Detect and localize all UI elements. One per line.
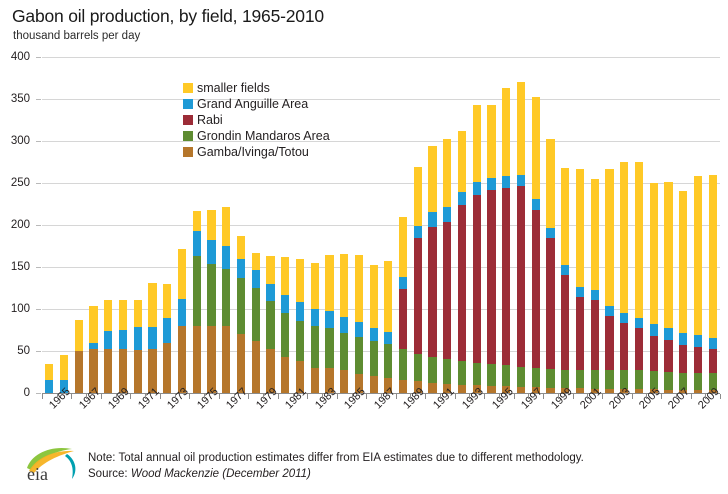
x-axis-tick-mark xyxy=(337,394,338,399)
bar-segment xyxy=(296,361,304,393)
bar-segment xyxy=(458,205,466,361)
legend-item[interactable]: Grand Anguille Area xyxy=(183,96,330,112)
bar-segment xyxy=(178,249,186,299)
bar-segment xyxy=(414,238,422,354)
bar-segment xyxy=(517,186,525,367)
page-title: Gabon oil production, by field, 1965-201… xyxy=(12,6,324,27)
bar-1994[interactable] xyxy=(473,105,481,393)
y-axis-tick-label: 150 xyxy=(0,261,30,273)
bar-1978[interactable] xyxy=(237,236,245,393)
bar-segment xyxy=(664,340,672,372)
bar-segment xyxy=(163,284,171,318)
bar-segment xyxy=(266,349,274,393)
legend-item[interactable]: Rabi xyxy=(183,112,330,128)
bar-1990[interactable] xyxy=(414,167,422,393)
bar-segment xyxy=(517,367,525,387)
bar-segment xyxy=(148,349,156,393)
x-axis-tick-mark xyxy=(410,394,411,399)
legend-item-label: smaller fields xyxy=(197,82,270,95)
bar-segment xyxy=(89,349,97,393)
bar-segment xyxy=(694,176,702,335)
bar-segment xyxy=(104,331,112,349)
bar-segment xyxy=(650,183,658,324)
bar-segment xyxy=(45,364,53,380)
legend-swatch-icon xyxy=(183,83,193,93)
bar-segment xyxy=(487,105,495,178)
y-axis-tick-mark xyxy=(36,183,41,184)
bar-segment xyxy=(428,146,436,212)
bar-1998[interactable] xyxy=(532,97,540,393)
bar-segment xyxy=(591,370,599,388)
bar-segment xyxy=(340,370,348,393)
bar-segment xyxy=(384,344,392,378)
bar-segment xyxy=(311,309,319,326)
bar-2003[interactable] xyxy=(605,169,613,393)
bar-2010[interactable] xyxy=(709,175,717,393)
bar-segment xyxy=(664,328,672,340)
bar-segment xyxy=(325,255,333,310)
bar-2000[interactable] xyxy=(561,168,569,393)
bar-segment xyxy=(620,313,628,323)
bar-segment xyxy=(576,169,584,287)
bar-segment xyxy=(458,385,466,393)
bar-segment xyxy=(281,295,289,313)
bar-segment xyxy=(561,265,569,276)
y-axis-tick-label: 300 xyxy=(0,135,30,147)
x-axis-tick-mark xyxy=(366,394,367,399)
bar-segment xyxy=(89,343,97,350)
x-axis-tick-mark xyxy=(42,394,43,399)
bar-segment xyxy=(428,357,436,383)
bar-segment xyxy=(355,337,363,374)
bar-segment xyxy=(60,355,68,380)
bar-segment xyxy=(428,212,436,226)
bar-segment xyxy=(193,326,201,393)
bar-segment xyxy=(443,384,451,393)
bar-segment xyxy=(119,330,127,349)
bar-segment xyxy=(561,275,569,369)
bar-1977[interactable] xyxy=(222,207,230,393)
x-axis-tick-mark xyxy=(455,394,456,399)
x-axis-tick-mark xyxy=(646,394,647,399)
bar-1966[interactable] xyxy=(60,355,68,393)
y-axis-tick-mark xyxy=(36,309,41,310)
bar-1985[interactable] xyxy=(340,254,348,393)
bar-1968[interactable] xyxy=(89,306,97,393)
bar-2001[interactable] xyxy=(576,169,584,393)
bar-1971[interactable] xyxy=(134,300,142,393)
bar-segment xyxy=(325,311,333,328)
bar-segment xyxy=(458,131,466,192)
bar-segment xyxy=(620,323,628,370)
bar-2007[interactable] xyxy=(664,182,672,393)
bar-segment xyxy=(266,284,274,301)
bar-1981[interactable] xyxy=(281,257,289,393)
x-axis-tick-mark xyxy=(514,394,515,399)
y-axis-tick-label: 250 xyxy=(0,177,30,189)
bar-segment xyxy=(650,324,658,336)
bar-segment xyxy=(134,350,142,393)
bar-2004[interactable] xyxy=(620,162,628,393)
bar-2005[interactable] xyxy=(635,162,643,393)
bar-segment xyxy=(487,386,495,393)
legend-item-label: Rabi xyxy=(197,114,223,127)
x-axis-tick-mark xyxy=(71,394,72,399)
bar-segment xyxy=(546,369,554,388)
bar-segment xyxy=(709,349,717,373)
bar-segment xyxy=(635,328,643,370)
legend-item[interactable]: Grondin Mandaros Area xyxy=(183,128,330,144)
bar-segment xyxy=(458,361,466,385)
bar-segment xyxy=(237,334,245,393)
bar-segment xyxy=(340,254,348,318)
y-axis-tick-label: 200 xyxy=(0,219,30,231)
bar-1967[interactable] xyxy=(75,320,83,393)
x-axis-tick-mark xyxy=(175,394,176,399)
bar-segment xyxy=(163,343,171,393)
bar-segment xyxy=(502,386,510,393)
bar-segment xyxy=(605,306,613,316)
bar-segment xyxy=(635,162,643,318)
bar-segment xyxy=(679,191,687,334)
bar-segment xyxy=(384,261,392,332)
eia-logo: eia xyxy=(24,446,82,484)
bar-2002[interactable] xyxy=(591,179,599,393)
bar-segment xyxy=(694,373,702,390)
y-axis-tick-label: 0 xyxy=(0,387,30,399)
bar-segment xyxy=(709,175,717,338)
x-axis-tick-mark xyxy=(189,394,190,399)
bar-1984[interactable] xyxy=(325,255,333,393)
bar-1983[interactable] xyxy=(311,263,319,393)
bar-1991[interactable] xyxy=(428,146,436,393)
bar-1992[interactable] xyxy=(443,139,451,393)
bar-segment xyxy=(591,179,599,290)
bar-segment xyxy=(428,383,436,393)
bar-segment xyxy=(694,347,702,373)
bar-segment xyxy=(414,354,422,382)
bar-segment xyxy=(650,371,658,389)
bar-segment xyxy=(370,328,378,341)
bar-segment xyxy=(311,263,319,309)
x-axis-tick-mark xyxy=(145,394,146,399)
bar-segment xyxy=(414,226,422,238)
x-axis-tick-mark xyxy=(720,394,721,399)
bar-1975[interactable] xyxy=(193,211,201,393)
bar-segment xyxy=(664,182,672,328)
bar-segment xyxy=(311,368,319,393)
x-axis-tick-mark xyxy=(263,394,264,399)
bar-segment xyxy=(443,222,451,359)
bar-segment xyxy=(443,207,451,221)
bar-2008[interactable] xyxy=(679,191,687,393)
bar-segment xyxy=(237,236,245,260)
x-axis-tick-mark xyxy=(293,394,294,399)
bar-1972[interactable] xyxy=(148,283,156,393)
legend-item-label: Gamba/Ivinga/Totou xyxy=(197,146,309,159)
legend-swatch-icon xyxy=(183,115,193,125)
bar-segment xyxy=(443,359,451,384)
bar-segment xyxy=(148,283,156,327)
x-axis-tick-mark xyxy=(440,394,441,399)
bar-segment xyxy=(119,349,127,393)
note-text: Total annual oil production estimates di… xyxy=(119,452,584,464)
bar-segment xyxy=(60,380,68,393)
x-axis-tick-mark xyxy=(602,394,603,399)
bar-segment xyxy=(576,297,584,369)
x-axis-tick-mark xyxy=(278,394,279,399)
bar-segment xyxy=(178,299,186,326)
x-axis-tick-mark xyxy=(484,394,485,399)
y-axis-tick-label: 350 xyxy=(0,93,30,105)
footer-divider xyxy=(0,437,728,438)
bar-segment xyxy=(222,246,230,269)
bar-segment xyxy=(193,211,201,231)
x-axis-tick-mark xyxy=(543,394,544,399)
y-axis-tick-label: 400 xyxy=(0,51,30,63)
bar-1982[interactable] xyxy=(296,259,304,393)
bar-segment xyxy=(193,256,201,326)
y-axis-tick-label: 100 xyxy=(0,303,30,315)
y-axis-tick-mark xyxy=(36,57,41,58)
bar-segment xyxy=(473,105,481,182)
bar-segment xyxy=(207,210,215,240)
bar-segment xyxy=(620,370,628,388)
bar-1996[interactable] xyxy=(502,88,510,393)
bar-segment xyxy=(487,364,495,386)
bar-segment xyxy=(222,269,230,326)
bar-1969[interactable] xyxy=(104,300,112,393)
bar-segment xyxy=(428,227,436,357)
bar-segment xyxy=(281,257,289,295)
bar-segment xyxy=(591,290,599,300)
x-axis-tick-mark xyxy=(130,394,131,399)
bar-1999[interactable] xyxy=(546,139,554,393)
bar-segment xyxy=(311,326,319,368)
bar-segment xyxy=(75,320,83,351)
x-axis-tick-mark xyxy=(204,394,205,399)
x-axis-tick-mark xyxy=(234,394,235,399)
bar-segment xyxy=(207,240,215,264)
bar-segment xyxy=(414,167,422,226)
bar-1986[interactable] xyxy=(355,255,363,393)
bar-segment xyxy=(664,372,672,390)
x-axis-tick-mark xyxy=(499,394,500,399)
bar-segment xyxy=(296,321,304,361)
bar-segment xyxy=(679,373,687,390)
bar-segment xyxy=(546,139,554,228)
bar-segment xyxy=(502,188,510,365)
x-axis-tick-mark xyxy=(425,394,426,399)
bar-segment xyxy=(340,317,348,332)
bar-segment xyxy=(517,175,525,187)
bar-segment xyxy=(252,253,260,271)
bar-segment xyxy=(517,82,525,174)
bar-segment xyxy=(104,300,112,331)
bar-segment xyxy=(561,168,569,265)
x-axis-tick-mark xyxy=(116,394,117,399)
bar-segment xyxy=(635,370,643,388)
bar-segment xyxy=(325,328,333,368)
bar-segment xyxy=(207,326,215,393)
bar-segment xyxy=(591,300,599,371)
bar-segment xyxy=(355,322,363,336)
x-axis-tick-mark xyxy=(381,394,382,399)
bar-segment xyxy=(222,326,230,393)
bar-segment xyxy=(399,349,407,379)
bar-segment xyxy=(532,199,540,210)
bar-1974[interactable] xyxy=(178,249,186,393)
bar-segment xyxy=(576,287,584,297)
x-axis-tick-mark xyxy=(469,394,470,399)
bar-1995[interactable] xyxy=(487,105,495,393)
bar-segment xyxy=(370,341,378,376)
legend-swatch-icon xyxy=(183,131,193,141)
bar-segment xyxy=(45,380,53,393)
bar-segment xyxy=(605,169,613,306)
x-axis-tick-mark xyxy=(248,394,249,399)
bar-1965[interactable] xyxy=(45,364,53,393)
bar-2006[interactable] xyxy=(650,183,658,393)
y-axis-tick-mark xyxy=(36,225,41,226)
legend-swatch-icon xyxy=(183,99,193,109)
bar-segment xyxy=(487,178,495,190)
bar-segment xyxy=(355,374,363,393)
bar-segment xyxy=(532,368,540,387)
bar-1993[interactable] xyxy=(458,131,466,393)
bar-segment xyxy=(473,182,481,195)
y-axis-tick-mark xyxy=(36,99,41,100)
bar-segment xyxy=(532,210,540,368)
x-axis-tick-mark xyxy=(617,394,618,399)
bar-segment xyxy=(325,368,333,393)
bar-segment xyxy=(75,351,83,393)
x-axis-tick-mark xyxy=(352,394,353,399)
bar-segment xyxy=(414,381,422,393)
bar-1988[interactable] xyxy=(384,261,392,393)
y-axis-tick-mark xyxy=(36,393,41,394)
bar-segment xyxy=(222,207,230,246)
bar-segment xyxy=(605,316,613,371)
bar-segment xyxy=(709,338,717,350)
bar-segment xyxy=(709,373,717,390)
bars-layer xyxy=(42,57,720,393)
bar-segment xyxy=(119,300,127,330)
bar-2009[interactable] xyxy=(694,176,702,393)
bar-segment xyxy=(370,376,378,393)
bar-segment xyxy=(89,306,97,343)
bar-segment xyxy=(237,259,245,277)
y-axis-tick-mark xyxy=(36,351,41,352)
bar-segment xyxy=(148,327,156,350)
bar-segment xyxy=(252,270,260,288)
bar-1976[interactable] xyxy=(207,210,215,393)
bar-segment xyxy=(473,385,481,393)
bar-1989[interactable] xyxy=(399,217,407,393)
x-axis-tick-mark xyxy=(558,394,559,399)
bar-segment xyxy=(178,326,186,393)
bar-segment xyxy=(473,195,481,363)
bar-segment xyxy=(296,259,304,302)
bar-segment xyxy=(399,289,407,349)
bar-segment xyxy=(134,300,142,327)
bar-segment xyxy=(370,265,378,327)
footer-note: Note: Total annual oil production estima… xyxy=(88,450,584,482)
bar-segment xyxy=(384,378,392,393)
bar-segment xyxy=(399,380,407,393)
x-axis-tick-mark xyxy=(705,394,706,399)
svg-text:eia: eia xyxy=(27,464,48,484)
bar-segment xyxy=(237,278,245,334)
chart-legend: smaller fieldsGrand Anguille AreaRabiGro… xyxy=(183,80,330,160)
bar-segment xyxy=(546,228,554,239)
bar-segment xyxy=(443,139,451,207)
bar-segment xyxy=(458,192,466,205)
source-text: Wood Mackenzie (December 2011) xyxy=(131,468,311,480)
bar-segment xyxy=(252,288,260,341)
bar-segment xyxy=(266,256,274,284)
bar-segment xyxy=(399,277,407,289)
bar-segment xyxy=(193,231,201,256)
x-axis-tick-mark xyxy=(676,394,677,399)
bar-segment xyxy=(252,341,260,393)
bar-segment xyxy=(399,217,407,277)
bar-segment xyxy=(384,332,392,345)
bar-segment xyxy=(296,302,304,320)
bar-segment xyxy=(134,327,142,351)
legend-swatch-icon xyxy=(183,147,193,157)
bar-segment xyxy=(207,264,215,326)
x-axis-tick-mark xyxy=(160,394,161,399)
bar-1980[interactable] xyxy=(266,256,274,393)
bar-segment xyxy=(281,313,289,357)
bar-segment xyxy=(502,88,510,176)
y-axis-unit-label: thousand barrels per day xyxy=(13,30,140,42)
legend-item[interactable]: smaller fields xyxy=(183,80,330,96)
note-label: Note: xyxy=(88,452,116,464)
x-axis-tick-mark xyxy=(528,394,529,399)
bar-1987[interactable] xyxy=(370,265,378,393)
bar-1997[interactable] xyxy=(517,82,525,393)
x-axis-tick-mark xyxy=(573,394,574,399)
legend-item-label: Grondin Mandaros Area xyxy=(197,130,330,143)
bar-segment xyxy=(340,333,348,371)
bar-segment xyxy=(266,301,274,350)
bar-segment xyxy=(487,190,495,365)
bar-segment xyxy=(104,349,112,393)
legend-item[interactable]: Gamba/Ivinga/Totou xyxy=(183,144,330,160)
x-axis-tick-mark xyxy=(86,394,87,399)
x-axis-tick-mark xyxy=(632,394,633,399)
bar-1973[interactable] xyxy=(163,284,171,393)
bar-1970[interactable] xyxy=(119,300,127,393)
x-axis-tick-mark xyxy=(219,394,220,399)
bar-segment xyxy=(650,336,658,371)
y-axis-tick-mark xyxy=(36,267,41,268)
bar-segment xyxy=(679,345,687,373)
bar-segment xyxy=(502,365,510,386)
source-label: Source: xyxy=(88,468,128,480)
bar-1979[interactable] xyxy=(252,253,260,393)
bar-segment xyxy=(635,318,643,328)
bar-segment xyxy=(546,238,554,368)
bar-segment xyxy=(679,333,687,345)
bar-segment xyxy=(576,370,584,388)
x-axis-tick-mark xyxy=(396,394,397,399)
bar-segment xyxy=(502,176,510,188)
x-axis-tick-mark xyxy=(307,394,308,399)
bar-segment xyxy=(355,255,363,322)
